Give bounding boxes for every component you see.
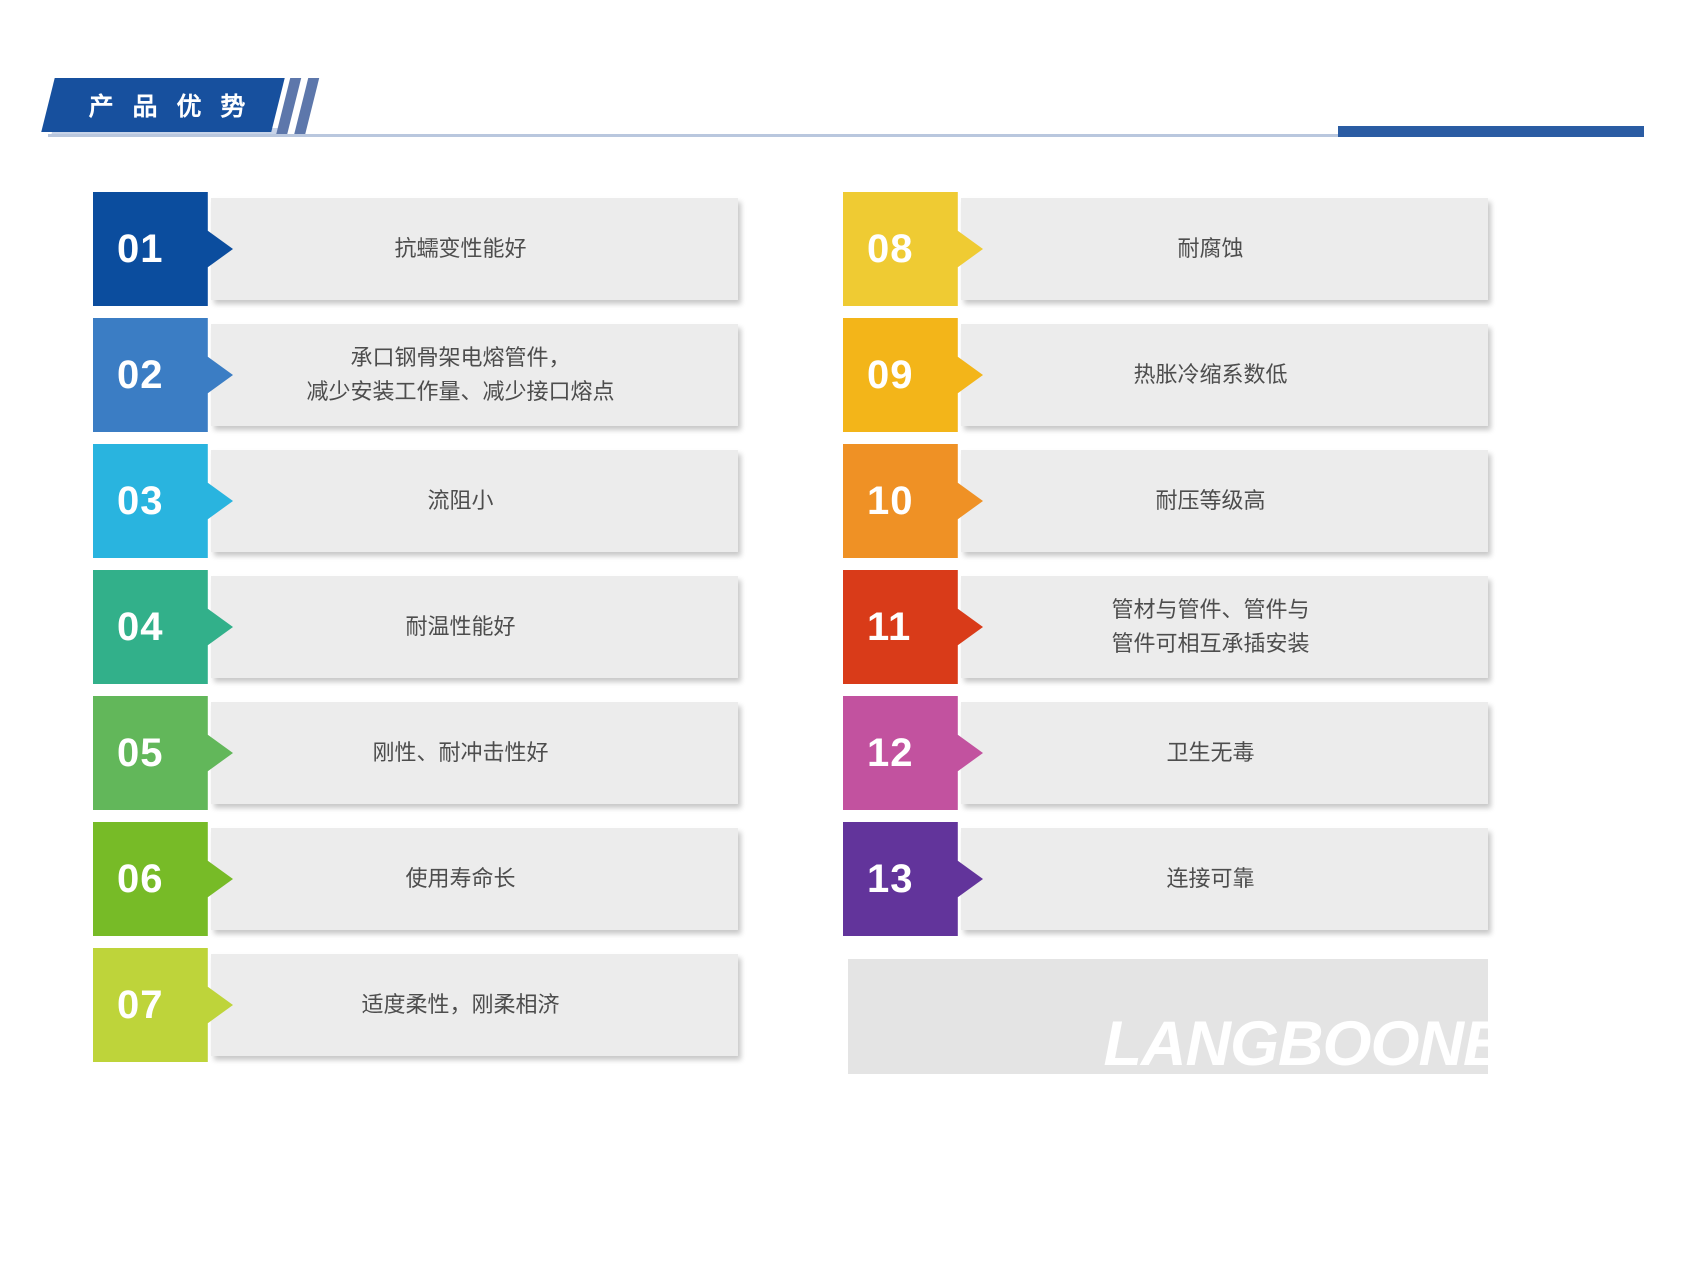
advantage-label: 适度柔性，刚柔相济 (211, 954, 738, 1056)
advantage-row[interactable]: 适度柔性，刚柔相济07 (93, 948, 738, 1062)
advantage-label: 使用寿命长 (211, 828, 738, 930)
advantage-label: 耐温性能好 (211, 576, 738, 678)
header-divider-accent (1338, 126, 1644, 137)
advantage-row[interactable]: 承口钢骨架电熔管件， 减少安装工作量、减少接口熔点02 (93, 318, 738, 432)
advantage-row[interactable]: 连接可靠13 (843, 822, 1488, 936)
advantage-label: 热胀冷缩系数低 (961, 324, 1488, 426)
advantage-text-panel: 耐腐蚀 (961, 198, 1488, 300)
advantage-text-panel: 卫生无毒 (961, 702, 1488, 804)
advantage-label: 连接可靠 (961, 828, 1488, 930)
advantage-label: 流阻小 (211, 450, 738, 552)
advantage-list-left: 抗蠕变性能好01承口钢骨架电熔管件， 减少安装工作量、减少接口熔点02流阻小03… (93, 192, 738, 1074)
page-title: 产 品 优 势 (82, 78, 252, 132)
brand-logo-text: LANGBOONE (1104, 1013, 1505, 1076)
advantage-row[interactable]: 使用寿命长06 (93, 822, 738, 936)
slide-header: 产 品 优 势 (0, 0, 1692, 165)
advantage-text-panel: 管材与管件、管件与 管件可相互承插安装 (961, 576, 1488, 678)
advantage-text-panel: 适度柔性，刚柔相济 (211, 954, 738, 1056)
advantage-text-panel: 耐压等级高 (961, 450, 1488, 552)
advantage-text-panel: 刚性、耐冲击性好 (211, 702, 738, 804)
advantage-row[interactable]: 热胀冷缩系数低09 (843, 318, 1488, 432)
advantage-label: 卫生无毒 (961, 702, 1488, 804)
advantage-label: 耐压等级高 (961, 450, 1488, 552)
advantage-row[interactable]: 耐温性能好04 (93, 570, 738, 684)
advantage-row[interactable]: 流阻小03 (93, 444, 738, 558)
advantage-text-panel: 使用寿命长 (211, 828, 738, 930)
advantage-row[interactable]: 抗蠕变性能好01 (93, 192, 738, 306)
slide-root: 产 品 优 势 抗蠕变性能好01承口钢骨架电熔管件， 减少安装工作量、减少接口熔… (0, 0, 1692, 1269)
advantage-row[interactable]: 耐压等级高10 (843, 444, 1488, 558)
advantage-label: 耐腐蚀 (961, 198, 1488, 300)
advantage-text-panel: 流阻小 (211, 450, 738, 552)
advantage-text-panel: 耐温性能好 (211, 576, 738, 678)
advantage-row[interactable]: 耐腐蚀08 (843, 192, 1488, 306)
advantage-row[interactable]: 管材与管件、管件与 管件可相互承插安装11 (843, 570, 1488, 684)
advantage-label: 管材与管件、管件与 管件可相互承插安装 (961, 576, 1488, 678)
advantage-row[interactable]: 刚性、耐冲击性好05 (93, 696, 738, 810)
brand-logo-panel: LANGBOONE (848, 959, 1488, 1074)
advantage-text-panel: 承口钢骨架电熔管件， 减少安装工作量、减少接口熔点 (211, 324, 738, 426)
advantage-label: 承口钢骨架电熔管件， 减少安装工作量、减少接口熔点 (211, 324, 738, 426)
advantage-label: 抗蠕变性能好 (211, 198, 738, 300)
advantage-text-panel: 热胀冷缩系数低 (961, 324, 1488, 426)
advantage-label: 刚性、耐冲击性好 (211, 702, 738, 804)
advantage-list-right: 耐腐蚀08热胀冷缩系数低09耐压等级高10管材与管件、管件与 管件可相互承插安装… (843, 192, 1488, 948)
advantage-text-panel: 连接可靠 (961, 828, 1488, 930)
advantage-text-panel: 抗蠕变性能好 (211, 198, 738, 300)
advantage-row[interactable]: 卫生无毒12 (843, 696, 1488, 810)
